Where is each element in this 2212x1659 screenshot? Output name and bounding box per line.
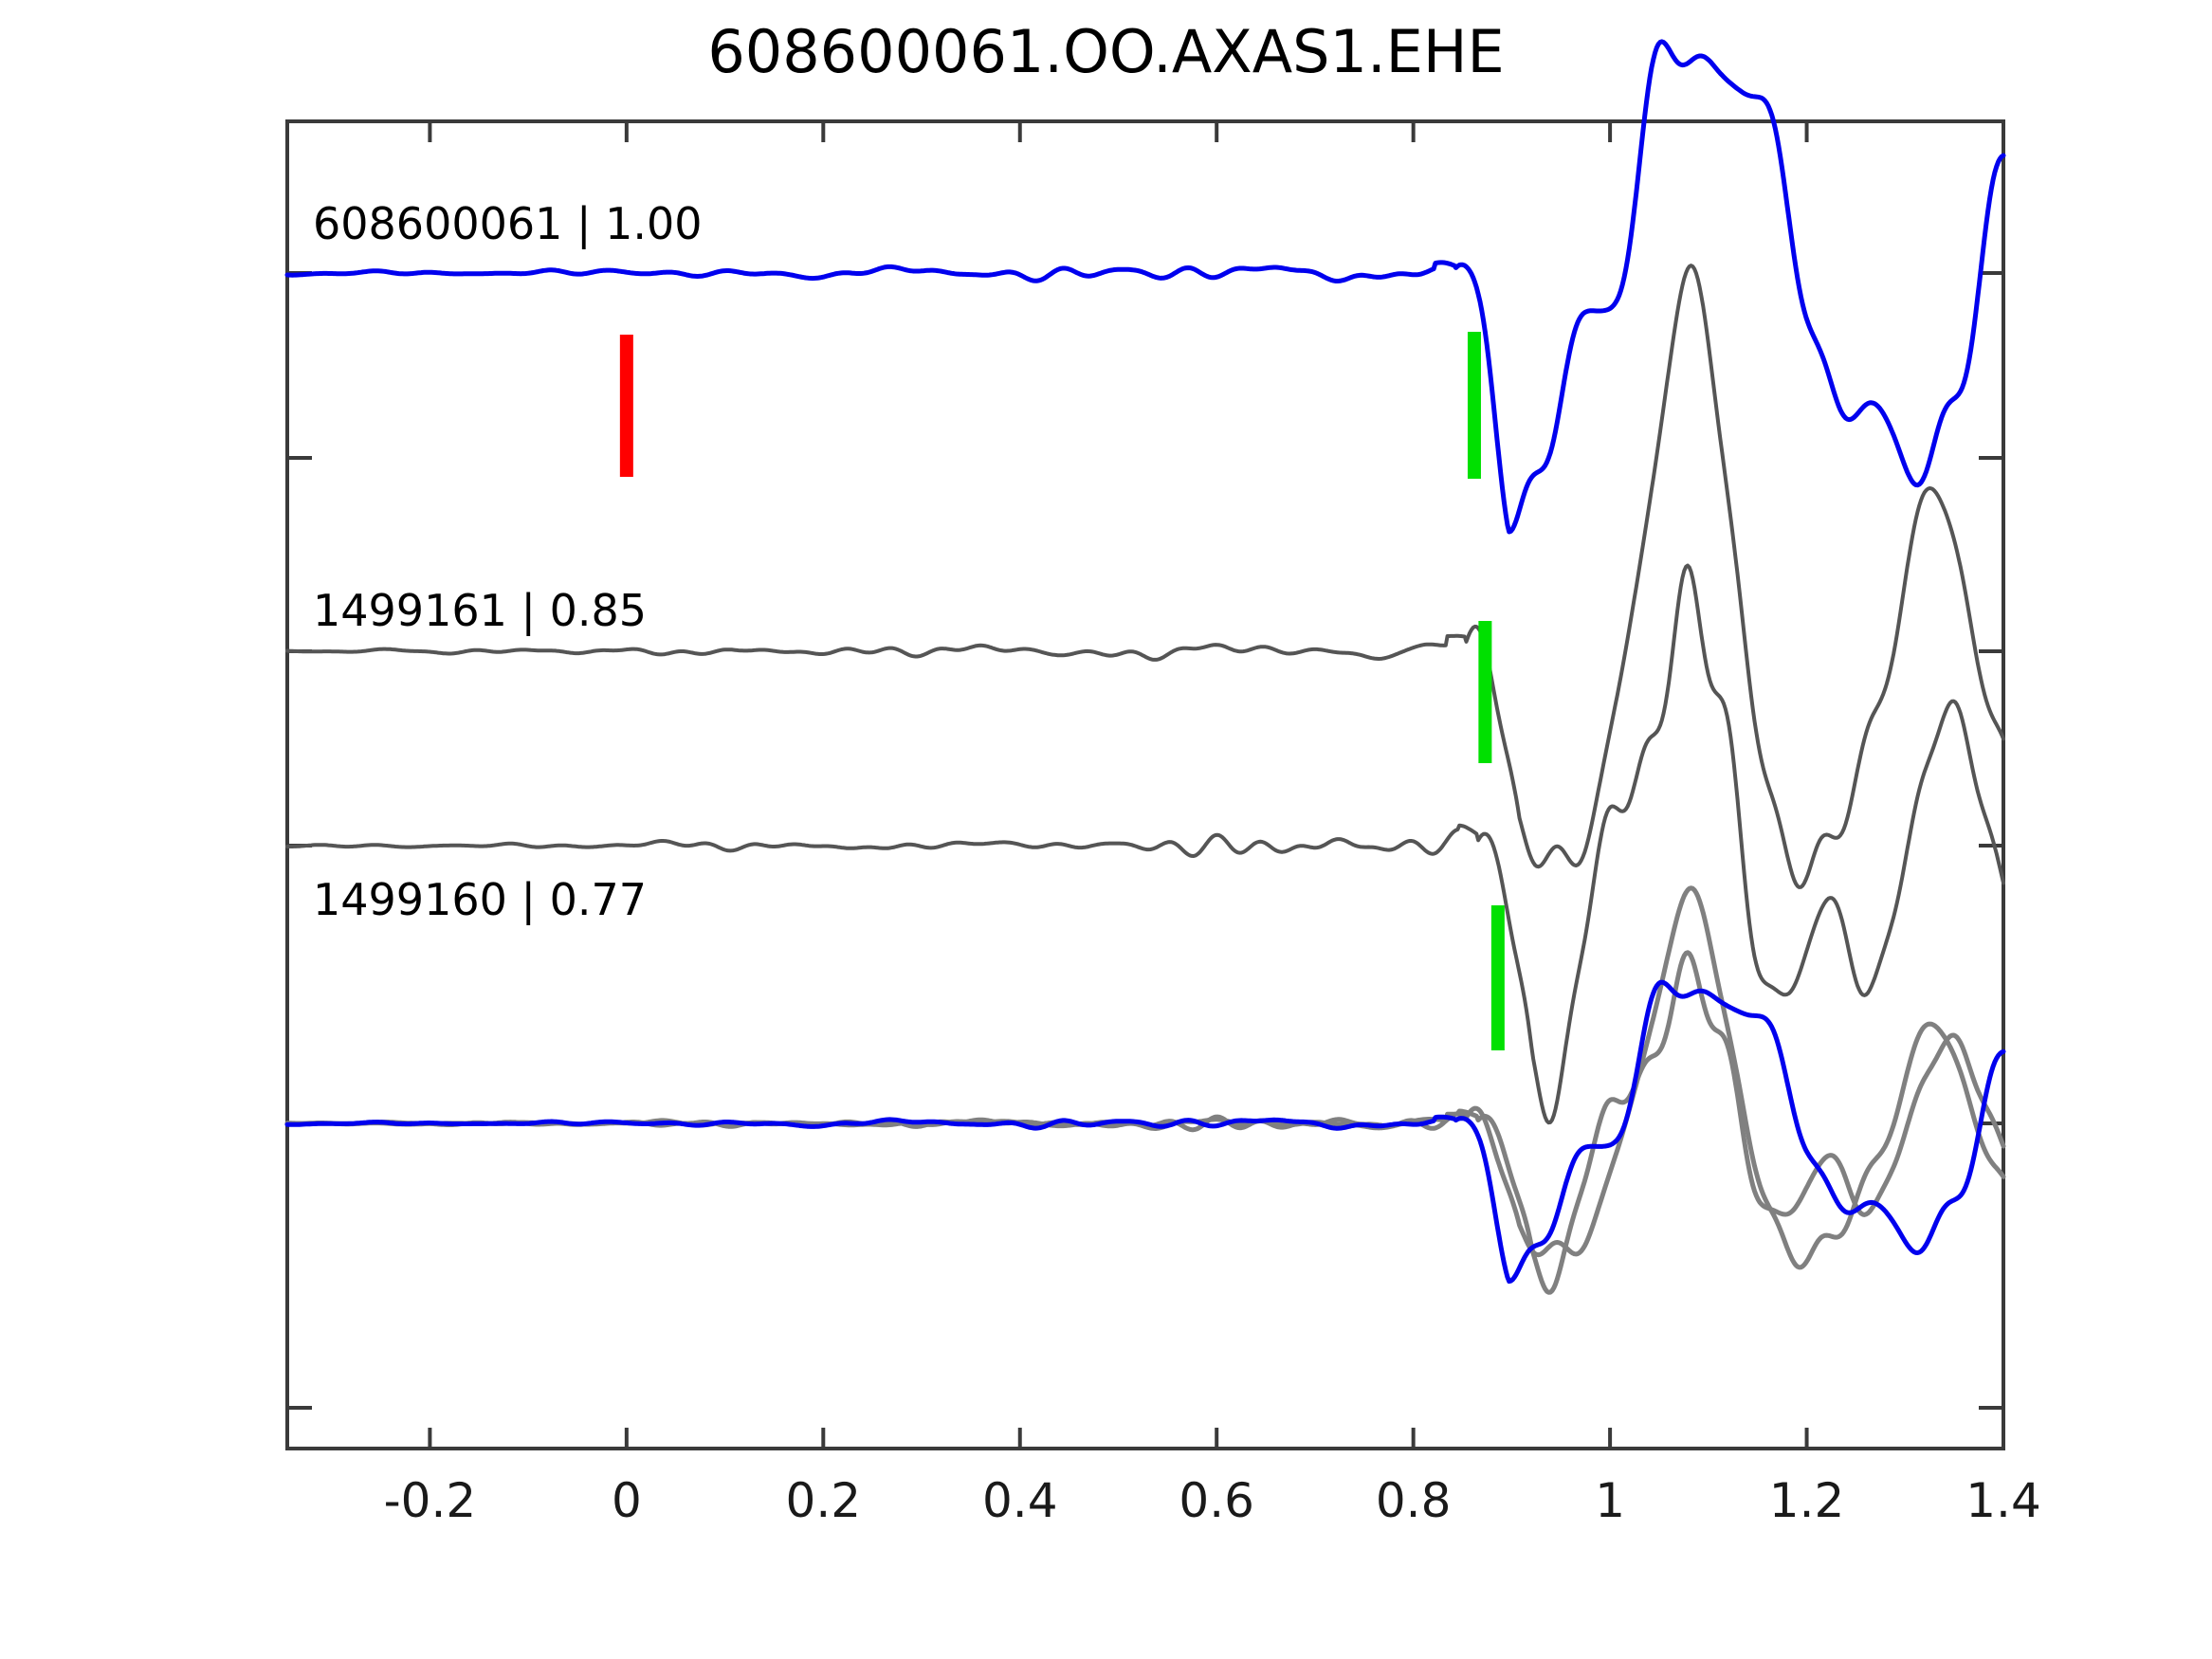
trace-label-1: 1499161 | 0.85: [313, 585, 647, 637]
x-tick-label: 1: [1595, 1473, 1625, 1528]
axes-frame: [287, 121, 2003, 1449]
waveform-trace-1499161: [287, 265, 2003, 887]
seismogram-figure: 608600061.OO.AXAS1.EHE 608600061 | 1.00 …: [0, 0, 2212, 1659]
x-axis-tick-labels: -0.200.20.40.60.811.21.4: [384, 1473, 2041, 1528]
x-tick-label: 0.2: [786, 1473, 862, 1528]
pick-markers: [620, 332, 1505, 1050]
x-tick-label: 0.8: [1376, 1473, 1452, 1528]
pick-marker-red-p-arrival: [620, 335, 633, 477]
x-tick-label: 0: [612, 1473, 642, 1528]
trace-label-2: 1499160 | 0.77: [313, 874, 647, 926]
waveform-trace-608600061: [287, 42, 2003, 532]
x-tick-label: 1.2: [1769, 1473, 1845, 1528]
waveform-trace-1499161: [287, 888, 2003, 1267]
waveform-plot: 608600061 | 1.00 1499161 | 0.85 1499160 …: [0, 0, 2212, 1659]
x-tick-label: 0.6: [1179, 1473, 1254, 1528]
x-tick-label: -0.2: [384, 1473, 477, 1528]
x-tick-label: 0.4: [982, 1473, 1058, 1528]
pick-marker-green-trace-0: [1468, 332, 1481, 479]
x-tick-label: 1.4: [1965, 1473, 2041, 1528]
pick-marker-green-trace-1: [1478, 621, 1491, 763]
pick-marker-green-trace-2: [1491, 905, 1505, 1050]
trace-label-0: 608600061 | 1.00: [313, 198, 703, 250]
y-axis-ticks: [287, 273, 2003, 1408]
